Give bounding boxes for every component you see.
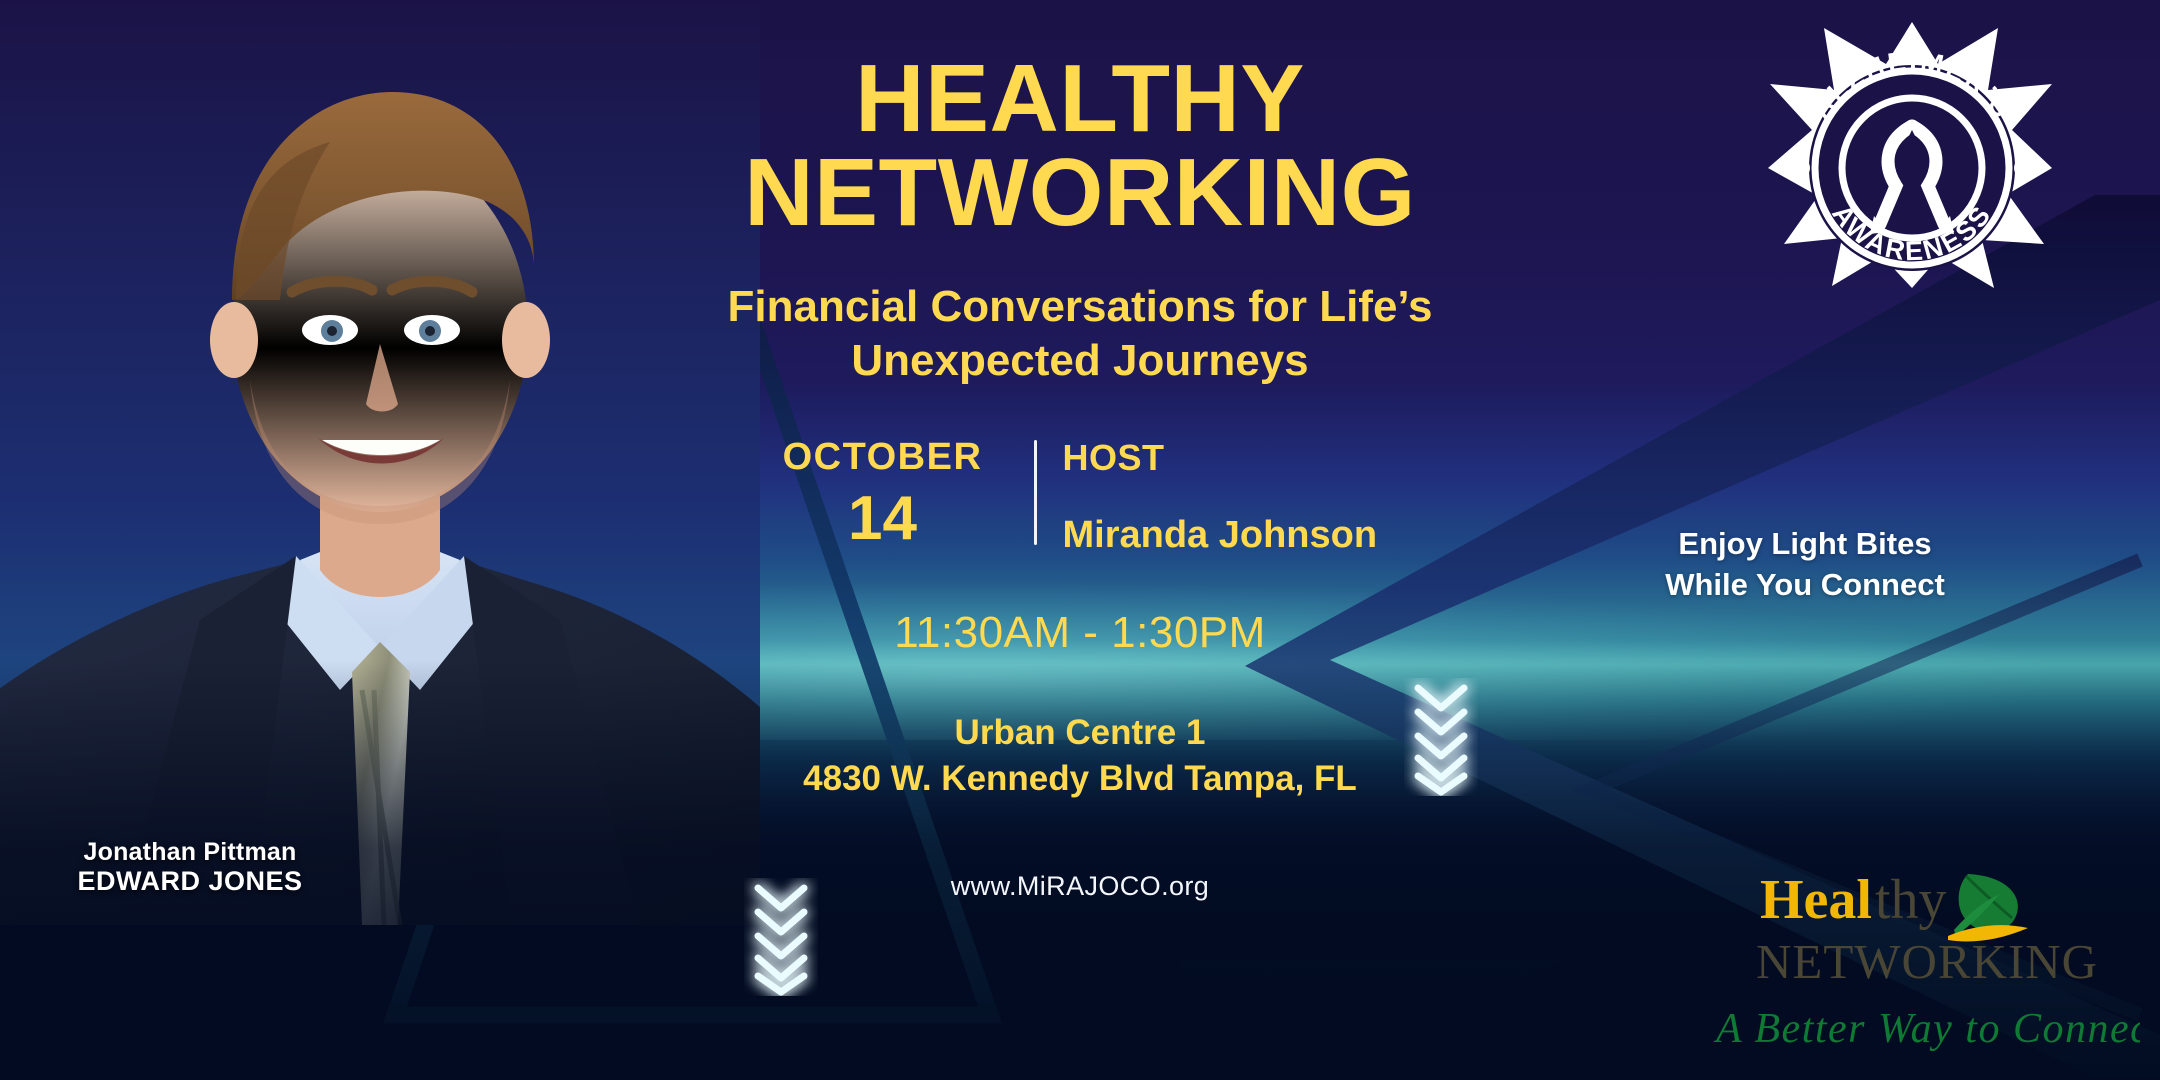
bites-line-1: Enjoy Light Bites xyxy=(1600,524,2010,565)
event-host: HOST Miranda Johnson xyxy=(1037,438,1403,554)
date-day: 14 xyxy=(758,486,1008,551)
chevron-cluster-left xyxy=(744,878,818,996)
event-date: OCTOBER 14 xyxy=(758,438,1034,551)
logo-word-thy: thy xyxy=(1875,869,1947,931)
date-month: OCTOBER xyxy=(758,438,1008,476)
bites-line-2: While You Connect xyxy=(1600,565,2010,606)
host-name: Miranda Johnson xyxy=(1063,516,1403,554)
title-line-1: HEALTHY xyxy=(600,52,1560,146)
logo-tagline: A Better Way to Connect xyxy=(1713,1006,2140,1052)
logo-word-networking: NETWORKING xyxy=(1756,934,2098,989)
page-subtitle: Financial Conversations for Life’s Unexp… xyxy=(600,280,1560,387)
chevron-down-icon xyxy=(744,878,818,996)
host-label: HOST xyxy=(1063,440,1403,476)
chevron-down-icon xyxy=(1404,678,1478,796)
chevron-cluster-right xyxy=(1404,678,1478,796)
leaf-icon xyxy=(1948,874,2028,942)
date-host-row: OCTOBER 14 HOST Miranda Johnson xyxy=(600,438,1560,554)
logo-word-heal: Heal xyxy=(1760,869,1872,931)
healthy-networking-logo: Heal thy NETWORKING A Better Way to Conn… xyxy=(1700,866,2140,1066)
speaker-firm: EDWARD JONES xyxy=(40,866,340,896)
page-title: HEALTHY NETWORKING xyxy=(600,52,1560,240)
speaker-credit: Jonathan Pittman EDWARD JONES xyxy=(40,838,340,896)
subtitle-line-1: Financial Conversations for Life’s xyxy=(600,280,1560,334)
alzheimers-awareness-badge: ALZHEIMER’S AWARENESS xyxy=(1762,18,2052,288)
logo-artwork: Heal thy NETWORKING A Better Way to Conn… xyxy=(1700,866,2140,1066)
awareness-badge-icon: ALZHEIMER’S AWARENESS xyxy=(1762,18,2052,288)
event-time: 11:30AM - 1:30PM xyxy=(600,608,1560,658)
light-bites-note: Enjoy Light Bites While You Connect xyxy=(1600,524,2010,606)
speaker-name: Jonathan Pittman xyxy=(40,838,340,866)
event-flyer: Jonathan Pittman EDWARD JONES HEALTHY NE… xyxy=(0,0,2160,1080)
subtitle-line-2: Unexpected Journeys xyxy=(600,334,1560,388)
title-line-2: NETWORKING xyxy=(600,146,1560,240)
